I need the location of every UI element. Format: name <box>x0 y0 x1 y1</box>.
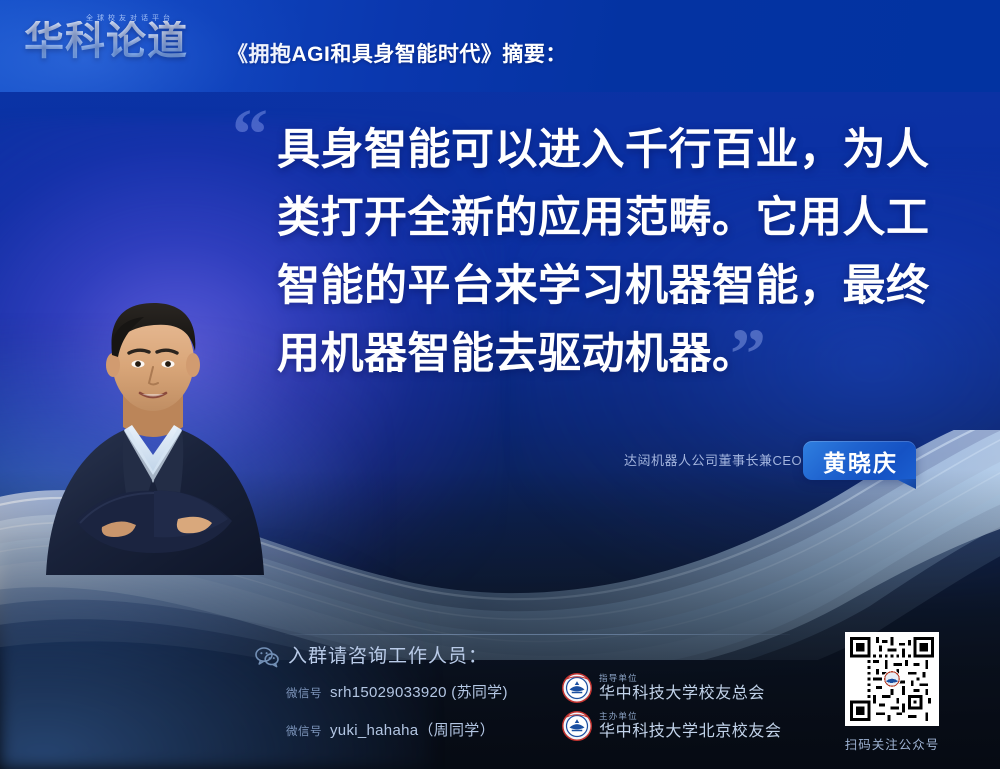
brand-tagline: 全球校友对话平台 <box>86 13 174 23</box>
organization-name-1: 华中科技大学校友总会 <box>599 686 765 702</box>
speaker-role: 达闼机器人公司董事长兼CEO <box>624 450 802 469</box>
organization-row-guidance: 指导单位 华中科技大学校友总会 <box>562 673 765 703</box>
page-title: 《拥抱AGI和具身智能时代》摘要： <box>227 38 567 68</box>
organization-kicker-1: 指导单位 <box>599 674 765 683</box>
quote-close-mark: ” <box>730 318 766 390</box>
contact-label-1: 微信号 <box>286 685 322 701</box>
contact-label-2: 微信号 <box>286 723 322 739</box>
brand-logo-text: 华科论道 <box>24 21 188 61</box>
hust-emblem-icon <box>562 673 592 703</box>
contact-value-2[interactable]: yuki_hahaha（周同学） <box>330 719 495 740</box>
contact-row-1: 微信号 srh15029033920 (苏同学) <box>286 681 508 702</box>
header-bar: 全球校友对话平台 华科论道 《拥抱AGI和具身智能时代》摘要： <box>0 0 1000 92</box>
organization-texts-1: 指导单位 华中科技大学校友总会 <box>599 674 765 702</box>
poster-canvas: 全球校友对话平台 华科论道 《拥抱AGI和具身智能时代》摘要： “ 具身智能可以… <box>0 0 1000 769</box>
hust-emblem-icon <box>562 711 592 741</box>
qr-code-pattern <box>850 637 934 721</box>
qr-caption: 扫码关注公众号 <box>842 734 942 753</box>
organization-row-host: 主办单位 华中科技大学北京校友会 <box>562 711 782 741</box>
footer-heading: 入群请咨询工作人员： <box>288 641 488 668</box>
organization-name-2: 华中科技大学北京校友会 <box>599 724 782 740</box>
contact-row-2: 微信号 yuki_hahaha（周同学） <box>286 719 495 740</box>
quote-open-mark: “ <box>232 98 268 170</box>
contact-value-1[interactable]: srh15029033920 (苏同学) <box>330 681 508 702</box>
organization-texts-2: 主办单位 华中科技大学北京校友会 <box>599 712 782 740</box>
brand-logo[interactable]: 全球校友对话平台 华科论道 <box>24 13 216 75</box>
quote-text: 具身智能可以进入千行百业，为人类打开全新的应用范畴。它用人工智能的平台来学习机器… <box>277 116 947 388</box>
organization-kicker-2: 主办单位 <box>599 712 782 721</box>
qr-code[interactable] <box>845 632 939 726</box>
wechat-icon <box>255 646 279 668</box>
footer-divider <box>285 634 790 635</box>
portrait-illustration <box>28 275 278 575</box>
speaker-portrait <box>28 275 278 575</box>
speaker-name-badge: 黄晓庆 <box>803 441 916 480</box>
